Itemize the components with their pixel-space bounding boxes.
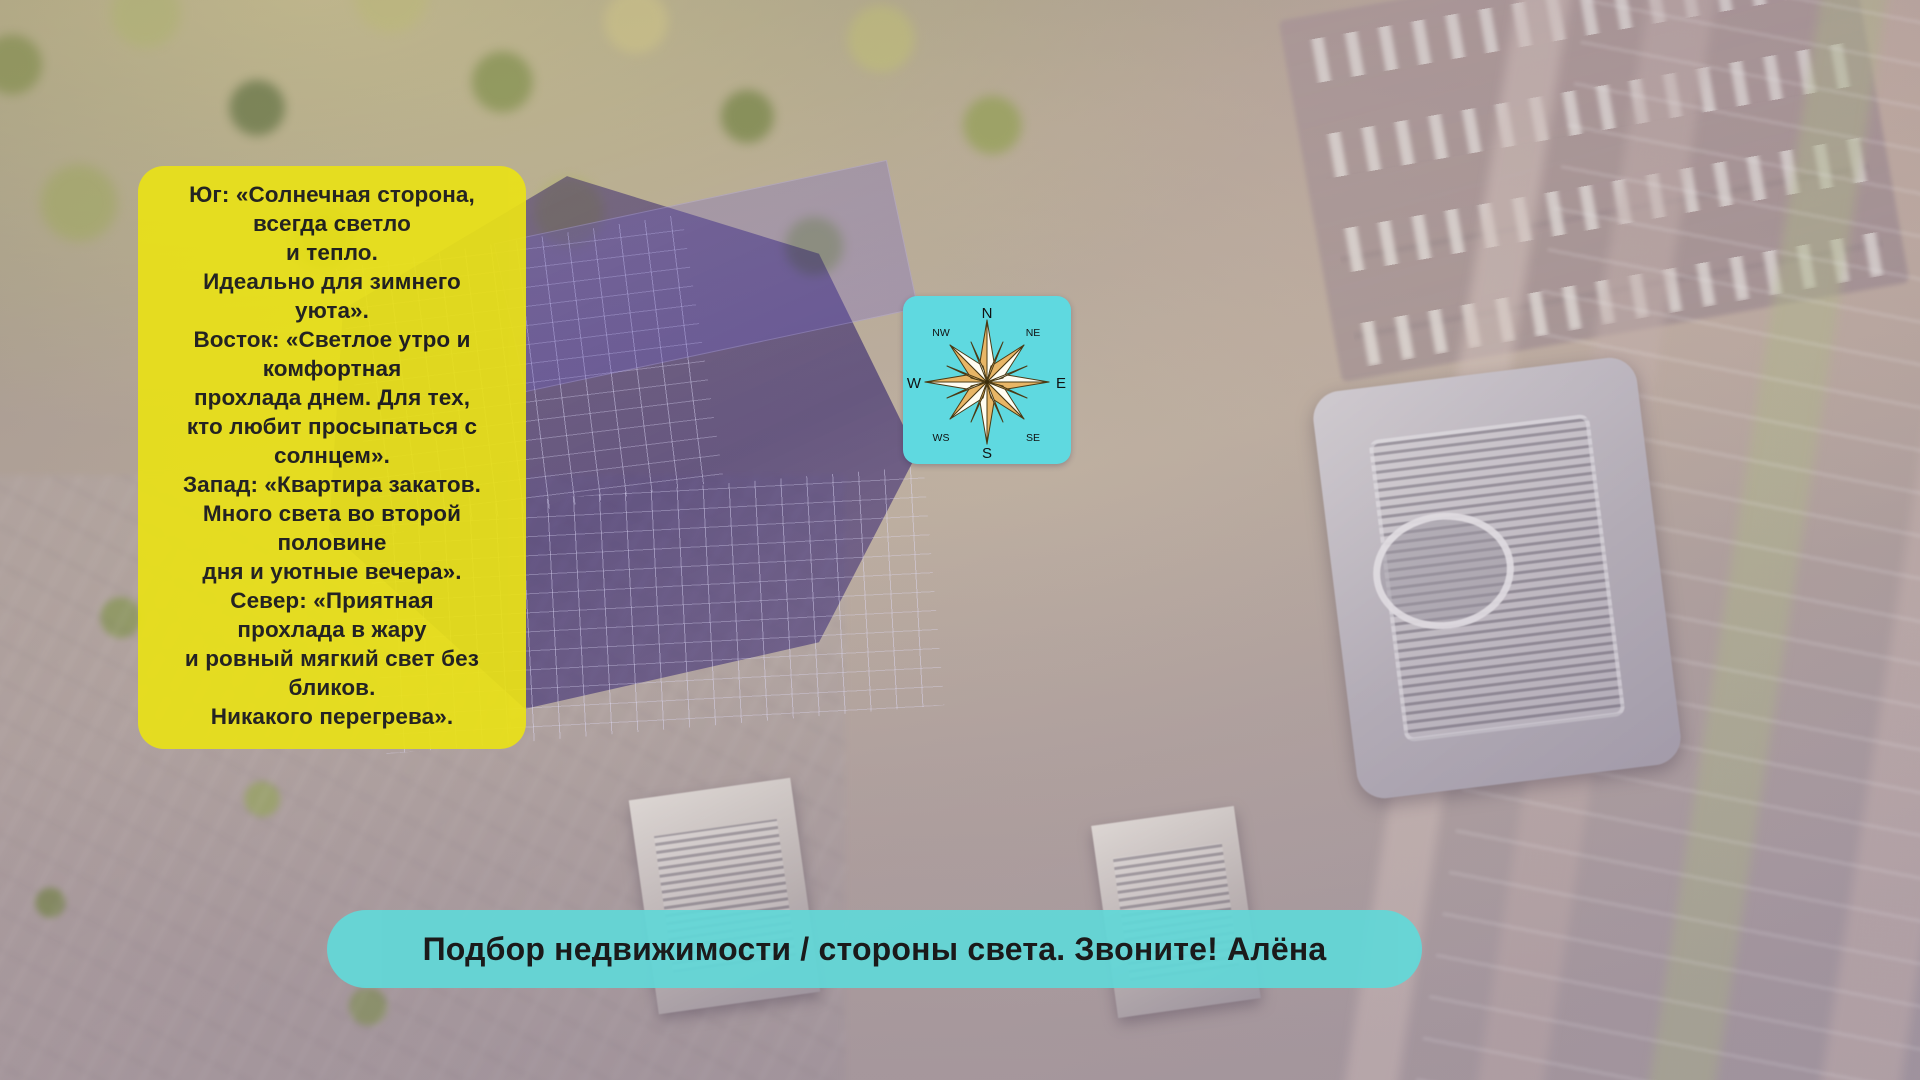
orientation-info-card: Юг: «Солнечная сторона, всегда светло и … bbox=[138, 166, 526, 749]
info-card-line-5: Восток: «Светлое утро и bbox=[156, 325, 508, 354]
compass-label-east: E bbox=[1056, 375, 1066, 392]
info-card-line-3: Идеально для зимнего bbox=[156, 267, 508, 296]
info-card-line-10: Запад: «Квартира закатов. bbox=[156, 470, 508, 499]
info-card-line-6: комфортная bbox=[156, 354, 508, 383]
cta-banner[interactable]: Подбор недвижимости / стороны света. Зво… bbox=[327, 910, 1422, 988]
compass-rose-card: N S E W NE NW SE WS bbox=[903, 296, 1071, 464]
info-card-line-9: солнцем». bbox=[156, 441, 508, 470]
info-card-line-13: дня и уютные вечера». bbox=[156, 557, 508, 586]
info-card-line-12: половине bbox=[156, 528, 508, 557]
compass-label-south: S bbox=[982, 445, 992, 462]
compass-label-west: W bbox=[907, 375, 922, 392]
compass-rose-icon: N S E W NE NW SE WS bbox=[903, 296, 1071, 464]
compass-label-north: N bbox=[982, 305, 993, 322]
compass-label-south-east: SE bbox=[1026, 432, 1040, 444]
info-card-line-18: Никакого перегрева». bbox=[156, 702, 508, 731]
info-card-line-16: и ровный мягкий свет без bbox=[156, 644, 508, 673]
info-card-line-17: бликов. bbox=[156, 673, 508, 702]
compass-label-north-west: NW bbox=[932, 327, 950, 339]
info-card-line-11: Много света во второй bbox=[156, 499, 508, 528]
compass-label-north-east: NE bbox=[1026, 327, 1041, 339]
promo-image-canvas: Юг: «Солнечная сторона, всегда светло и … bbox=[0, 0, 1920, 1080]
compass-label-south-west: WS bbox=[933, 432, 950, 444]
info-card-line-2: и тепло. bbox=[156, 238, 508, 267]
cta-banner-text: Подбор недвижимости / стороны света. Зво… bbox=[423, 931, 1327, 968]
info-card-line-15: прохлада в жару bbox=[156, 615, 508, 644]
info-card-line-14: Север: «Приятная bbox=[156, 586, 508, 615]
info-card-line-7: прохлада днем. Для тех, bbox=[156, 383, 508, 412]
info-card-line-8: кто любит просыпаться с bbox=[156, 412, 508, 441]
info-card-line-0: Юг: «Солнечная сторона, bbox=[156, 180, 508, 209]
info-card-line-1: всегда светло bbox=[156, 209, 508, 238]
info-card-line-4: уюта». bbox=[156, 296, 508, 325]
